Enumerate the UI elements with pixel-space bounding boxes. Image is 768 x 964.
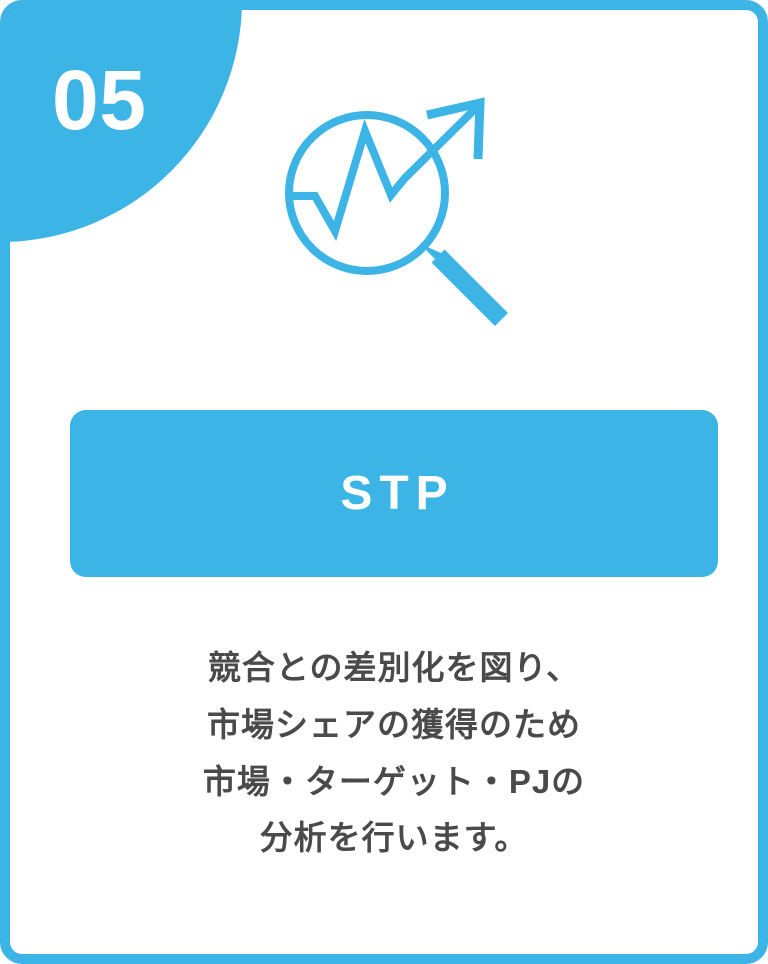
description-line: 分析を行います。 [74, 810, 714, 867]
step-title-banner[interactable]: STP [70, 410, 718, 577]
description-line: 市場シェアの獲得のため [74, 697, 714, 754]
step-card: 05 STP 競合との差別化を図り、 市場シェアの獲得のため 市場・ターゲット・… [0, 0, 768, 964]
description-line: 競合との差別化を図り、 [74, 640, 714, 697]
magnifier-growth-chart-icon [279, 97, 509, 367]
icon-container [10, 82, 768, 382]
step-title-label: STP [333, 470, 454, 518]
description-line: 市場・ターゲット・PJの [74, 754, 714, 811]
step-description: 競合との差別化を図り、 市場シェアの獲得のため 市場・ターゲット・PJの 分析を… [74, 640, 714, 867]
